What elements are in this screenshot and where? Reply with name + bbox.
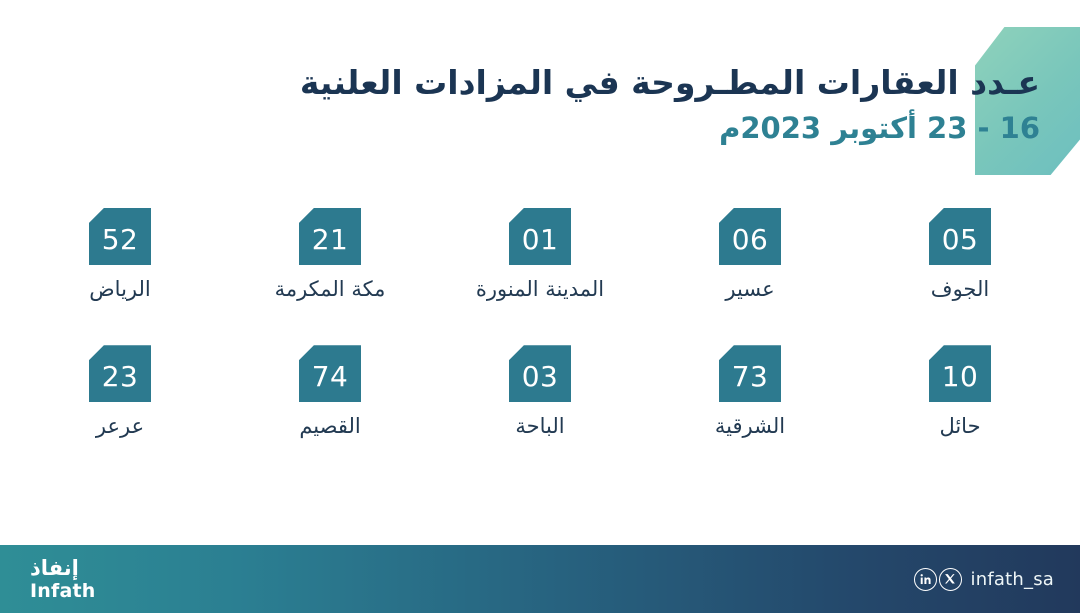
social-handle[interactable]: infath_sa — [971, 569, 1054, 590]
page-title: عـدد العقارات المطـروحة في المزادات العل… — [40, 62, 1040, 104]
count-badge: 23 — [89, 345, 151, 402]
region-item-madinah: 01 المدينة المنورة — [442, 208, 638, 303]
region-item-makkah: 21 مكة المكرمة — [232, 208, 428, 303]
region-label: المدينة المنورة — [476, 276, 604, 303]
region-label: عرعر — [96, 413, 144, 440]
social-icons — [914, 568, 962, 591]
count-value: 52 — [102, 226, 139, 254]
brand-logo: إنفاذ Infath — [30, 558, 96, 601]
count-badge: 21 — [299, 208, 361, 265]
region-label: مكة المكرمة — [275, 276, 386, 303]
region-label: الشرقية — [715, 413, 785, 440]
count-value: 73 — [732, 363, 769, 391]
count-badge: 06 — [719, 208, 781, 265]
count-value: 01 — [522, 226, 559, 254]
region-item-hail: 10 حائل — [862, 345, 1058, 440]
count-badge: 03 — [509, 345, 571, 402]
footer-bar: إنفاذ Infath infath_sa — [0, 545, 1080, 613]
infographic-page: عـدد العقارات المطـروحة في المزادات العل… — [0, 0, 1080, 613]
regions-row-1: 52 الرياض 21 مكة المكرمة 01 المدينة المن… — [22, 208, 1058, 303]
social-handle-group: infath_sa — [914, 568, 1054, 591]
count-value: 10 — [942, 363, 979, 391]
region-item-arar: 23 عرعر — [22, 345, 218, 440]
region-label: حائل — [939, 413, 980, 440]
count-value: 74 — [312, 363, 349, 391]
brand-name-arabic: إنفاذ — [30, 558, 79, 579]
count-badge: 73 — [719, 345, 781, 402]
count-value: 03 — [522, 363, 559, 391]
region-item-asir: 06 عسير — [652, 208, 848, 303]
region-item-jouf: 05 الجوف — [862, 208, 1058, 303]
regions-row-2: 23 عرعر 74 القصيم 03 الباحة 73 ال — [22, 345, 1058, 440]
region-item-qassim: 74 القصيم — [232, 345, 428, 440]
linkedin-icon[interactable] — [914, 568, 937, 591]
count-value: 06 — [732, 226, 769, 254]
regions-grid: 52 الرياض 21 مكة المكرمة 01 المدينة المن… — [22, 208, 1058, 441]
region-label: القصيم — [299, 413, 360, 440]
count-value: 05 — [942, 226, 979, 254]
count-badge: 10 — [929, 345, 991, 402]
region-label: عسير — [725, 276, 774, 303]
count-value: 21 — [312, 226, 349, 254]
region-label: الباحة — [515, 413, 564, 440]
count-badge: 74 — [299, 345, 361, 402]
page-subtitle-date-range: 16 - 23 أكتوبر 2023م — [40, 110, 1040, 146]
count-value: 23 — [102, 363, 139, 391]
region-item-baha: 03 الباحة — [442, 345, 638, 440]
count-badge: 05 — [929, 208, 991, 265]
region-label: الجوف — [931, 276, 989, 303]
x-icon[interactable] — [939, 568, 962, 591]
region-label: الرياض — [89, 276, 150, 303]
count-badge: 01 — [509, 208, 571, 265]
brand-name-latin: Infath — [30, 582, 96, 601]
region-item-riyadh: 52 الرياض — [22, 208, 218, 303]
region-item-eastern: 73 الشرقية — [652, 345, 848, 440]
header: عـدد العقارات المطـروحة في المزادات العل… — [40, 62, 1040, 146]
count-badge: 52 — [89, 208, 151, 265]
